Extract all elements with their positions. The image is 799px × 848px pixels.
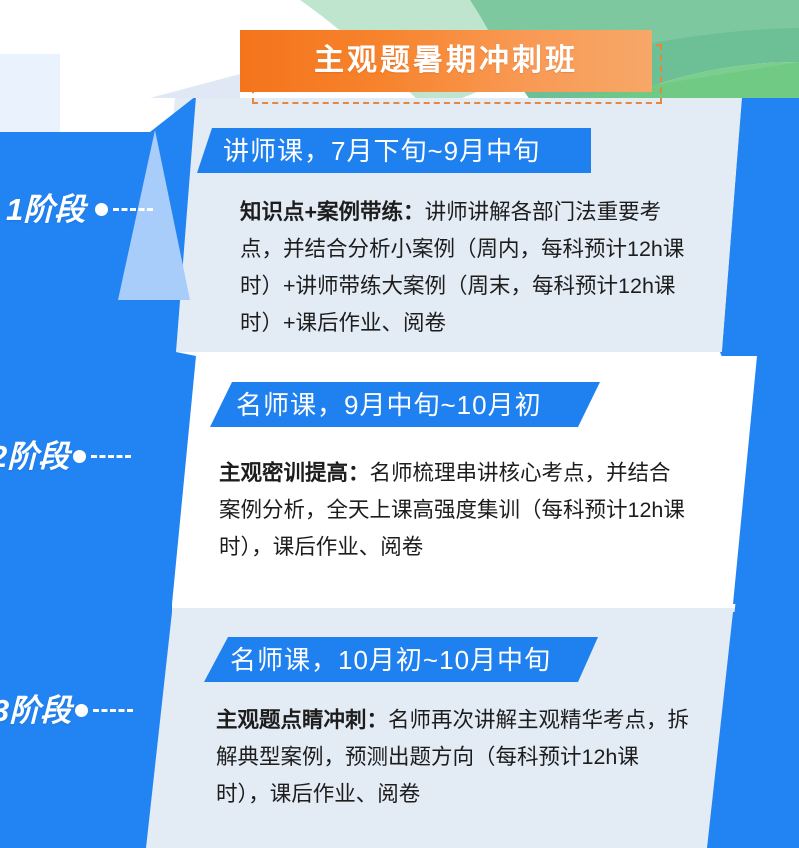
dashed-connector-icon bbox=[93, 709, 133, 712]
dashed-connector-icon bbox=[91, 455, 131, 458]
section-header-3-label: 名师课，10月初~10月中旬 bbox=[230, 647, 551, 673]
section-header-3: 名师课，10月初~10月中旬 bbox=[204, 637, 598, 682]
section-body-2: 主观密训提高：名师梳理串讲核心考点，并结合案例分析，全天上课高强度集训（每科预计… bbox=[219, 455, 689, 566]
section-body-3: 主观题点睛冲刺：名师再次讲解主观精华考点，拆解典型案例，预测出题方向（每科预计1… bbox=[216, 702, 690, 813]
section-header-1: 讲师课，7月下旬~9月中旬 bbox=[197, 128, 591, 173]
section-body-3-lead: 主观题点睛冲刺： bbox=[216, 708, 388, 732]
stage-marker-2: 2阶段 bbox=[0, 441, 131, 472]
section-body-1: 知识点+案例带练：讲师讲解各部门法重要考点，并结合分析小案例（周内，每科预计12… bbox=[240, 194, 702, 342]
section-header-1-label: 讲师课，7月下旬~9月中旬 bbox=[223, 138, 540, 164]
bullet-dot-icon bbox=[73, 450, 86, 463]
stage-marker-1: 1阶段 bbox=[6, 194, 153, 225]
stage-label-3: 3阶段 bbox=[0, 695, 71, 726]
bullet-dot-icon bbox=[75, 704, 88, 717]
blue-square-topleft-decor-2 bbox=[0, 54, 58, 132]
section-header-2: 名师课，9月中旬~10月初 bbox=[210, 382, 600, 427]
stage-label-1: 1阶段 bbox=[6, 194, 85, 225]
section-body-1-lead: 知识点+案例带练： bbox=[240, 200, 425, 224]
section-body-2-lead: 主观密训提高： bbox=[219, 461, 370, 485]
dashed-connector-icon bbox=[113, 208, 153, 211]
section-header-2-label: 名师课，9月中旬~10月初 bbox=[236, 392, 542, 418]
stage-marker-3: 3阶段 bbox=[0, 695, 133, 726]
bullet-dot-icon bbox=[95, 203, 108, 216]
poster-title-banner: 主观题暑期冲刺班 bbox=[240, 30, 652, 92]
blue-left-wedge-2 bbox=[0, 352, 196, 604]
page-title: 主观题暑期冲刺班 bbox=[314, 46, 578, 76]
poster-root: 主观题暑期冲刺班 1阶段 讲师课，7月下旬~9月中旬 知识点+案例带练：讲师讲解… bbox=[0, 0, 799, 848]
stage-label-2: 2阶段 bbox=[0, 441, 69, 472]
